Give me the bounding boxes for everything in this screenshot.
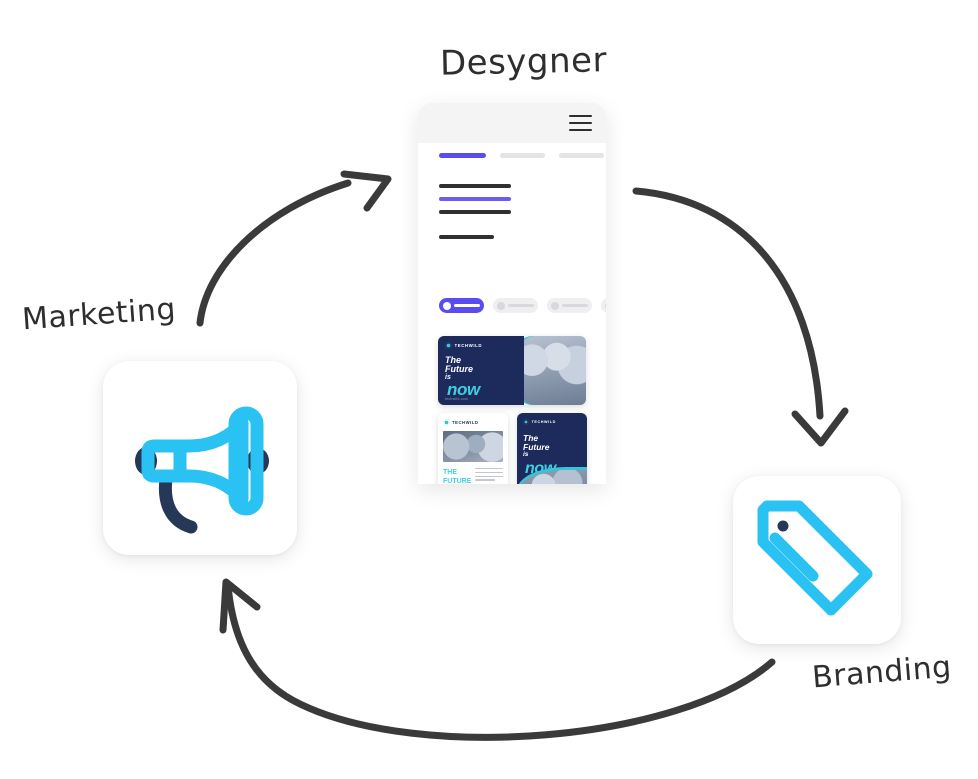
tab-row [439, 153, 604, 158]
pill-stem [508, 304, 534, 307]
filter-pill-3[interactable] [547, 298, 592, 313]
pill-knob [443, 302, 451, 310]
flyer-photo [443, 431, 503, 462]
template-card-banner[interactable]: TECHWILD The Future is now techwild.com [438, 336, 586, 405]
logo-mark-icon [445, 342, 452, 349]
node-marketing[interactable] [103, 361, 297, 555]
hamburger-menu-icon[interactable] [569, 115, 592, 131]
headline-line-1: THE [443, 468, 471, 477]
tab-active[interactable] [439, 153, 486, 158]
logo-mark-icon [443, 419, 450, 426]
placeholder-line-solo [439, 235, 494, 239]
banner-content: TECHWILD The Future is now techwild.com [438, 336, 524, 405]
node-label-branding: Branding [811, 650, 953, 696]
pill-stem [454, 304, 480, 307]
page-title-desygner: Desygner [440, 40, 608, 83]
template-card-row: TECHWILD THE FUTURE IS NOW. [438, 413, 606, 484]
brand-logo: TECHWILD [523, 419, 587, 425]
phone-mockup[interactable]: TECHWILD The Future is now techwild.com [418, 103, 606, 484]
diagram-canvas: Desygner Marketing Branding [0, 0, 978, 779]
headline-word-2: Future [523, 443, 587, 452]
banner-url: techwild.com [445, 397, 468, 401]
filter-pill-active[interactable] [439, 298, 484, 313]
brand-name: TECHWILD [532, 420, 556, 424]
flyer-headline: THE FUTURE IS NOW. [443, 468, 471, 484]
brand-logo: TECHWILD [443, 419, 503, 426]
node-label-marketing: Marketing [21, 292, 177, 338]
template-card-poster[interactable]: TECHWILD The Future is now [517, 413, 587, 484]
placeholder-line [439, 184, 511, 188]
tab-three[interactable] [559, 153, 604, 158]
template-card-flyer[interactable]: TECHWILD THE FUTURE IS NOW. [438, 413, 508, 484]
pill-knob [551, 302, 559, 310]
flyer-body-text [475, 468, 503, 484]
headline-word-3: is [523, 452, 587, 459]
brand-name: TECHWILD [452, 420, 479, 425]
phone-topbar [418, 103, 606, 143]
pill-stem [562, 304, 588, 307]
placeholder-line [439, 197, 511, 201]
filter-pill-row [439, 298, 606, 313]
pill-knob [605, 302, 606, 310]
node-branding[interactable] [733, 476, 901, 644]
pill-knob [497, 302, 505, 310]
text-placeholder-lines [439, 184, 511, 223]
headline-word-2: Future [445, 365, 524, 374]
brand-logo: TECHWILD [445, 342, 524, 349]
tab-two[interactable] [500, 153, 545, 158]
filter-pill-2[interactable] [493, 298, 538, 313]
megaphone-icon [103, 361, 297, 555]
brand-name: TECHWILD [455, 343, 483, 348]
flyer-body: THE FUTURE IS NOW. [443, 468, 503, 484]
banner-headline: The Future is now [445, 356, 524, 399]
placeholder-line [439, 210, 511, 214]
template-card-list: TECHWILD The Future is now techwild.com [438, 336, 606, 484]
price-tag-icon [733, 476, 901, 644]
phone-screen: TECHWILD The Future is now techwild.com [418, 143, 606, 484]
headline-line-2: FUTURE [443, 477, 471, 484]
logo-mark-icon [523, 419, 529, 425]
filter-pill-4[interactable] [601, 298, 606, 313]
